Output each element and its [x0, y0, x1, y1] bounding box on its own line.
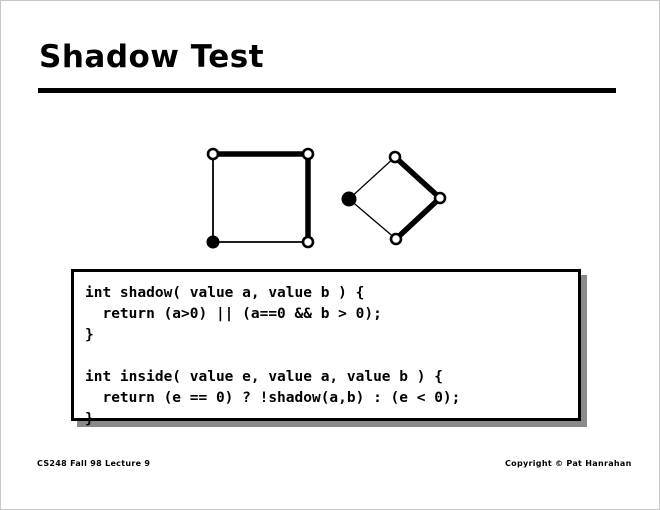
shadow-test-vertex-diagrams: [181, 129, 481, 269]
code-block-container: int shadow( value a, value b ) { return …: [71, 269, 581, 421]
square-vertex-top-right-open: [303, 149, 313, 159]
square-vertex-top-left-open: [208, 149, 218, 159]
square-vertex-bottom-left-filled: [207, 236, 219, 248]
diamond-polygon: [342, 152, 445, 244]
diamond-edge-upper-left-thin: [349, 157, 395, 199]
diamond-edge-lower-left-thin: [349, 199, 396, 239]
code-block-text: int shadow( value a, value b ) { return …: [85, 283, 460, 430]
title-divider: [38, 88, 616, 93]
slide-canvas: Shadow Test: [0, 0, 660, 510]
page-title: Shadow Test: [39, 39, 264, 75]
footer-copyright: Copyright © Pat Hanrahan: [505, 459, 632, 468]
diamond-vertex-right-open: [435, 193, 445, 203]
diamond-vertex-left-filled: [342, 192, 356, 206]
diagram-svg: [181, 129, 481, 269]
square-vertex-bottom-right-open: [303, 237, 313, 247]
diamond-vertex-bottom-open: [391, 234, 401, 244]
square-polygon: [207, 149, 313, 248]
diamond-vertex-top-open: [390, 152, 400, 162]
diamond-edge-upper-right-thick: [395, 157, 440, 198]
code-block-frame: int shadow( value a, value b ) { return …: [71, 269, 581, 421]
diamond-edge-lower-right-thick: [396, 198, 440, 239]
footer-course-label: CS248 Fall 98 Lecture 9: [37, 459, 150, 468]
